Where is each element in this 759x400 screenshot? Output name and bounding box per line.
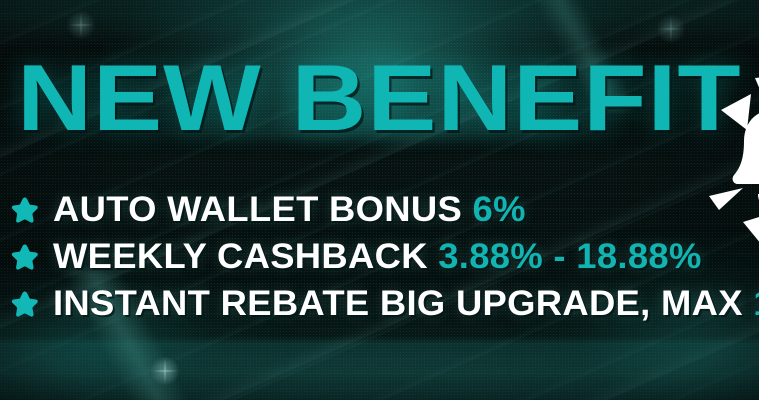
page-title: NEW BENEFIT (0, 50, 759, 146)
benefit-label: INSTANT REBATE BIG UPGRADE, MAX (53, 284, 743, 323)
benefit-text: WEEKLY CASHBACK 3.88% - 18.88% (53, 238, 702, 275)
promo-banner: NEW BENEFIT (0, 0, 759, 400)
star-icon (10, 242, 40, 272)
benefit-text: INSTANT REBATE BIG UPGRADE, MAX 1.38% (53, 285, 759, 322)
benefit-value: 1.38% (753, 284, 759, 323)
benefit-value: 6% (473, 190, 526, 229)
list-item: WEEKLY CASHBACK 3.88% - 18.88% (0, 233, 759, 280)
benefit-text: AUTO WALLET BONUS 6% (53, 191, 526, 228)
benefit-value: 3.88% - 18.88% (438, 237, 701, 276)
benefit-label: AUTO WALLET BONUS (53, 190, 462, 229)
star-icon (10, 289, 40, 319)
list-item: AUTO WALLET BONUS 6% (0, 186, 759, 233)
benefit-list: AUTO WALLET BONUS 6% WEEKLY CASHBACK 3.8… (0, 186, 759, 327)
benefit-label: WEEKLY CASHBACK (53, 237, 428, 276)
list-item: INSTANT REBATE BIG UPGRADE, MAX 1.38% (0, 280, 759, 327)
star-icon (10, 195, 40, 225)
